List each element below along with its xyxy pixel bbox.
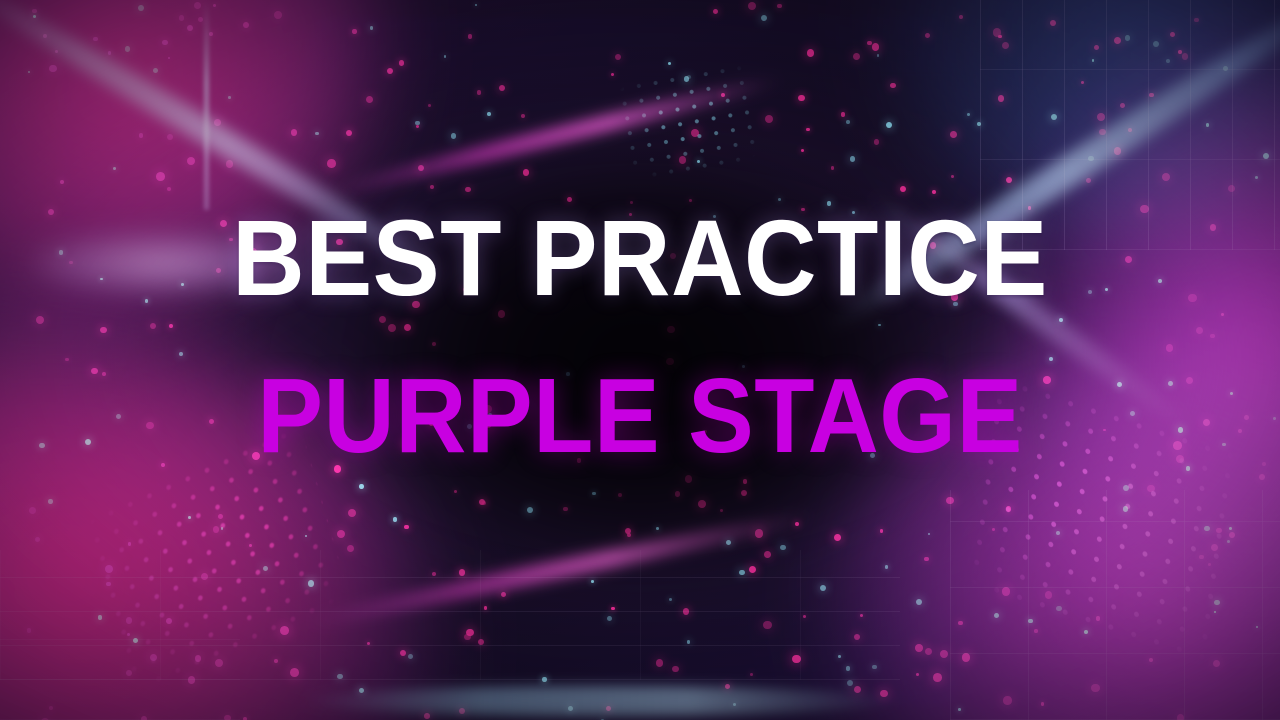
light-beam-left-lavender bbox=[30, 232, 290, 294]
light-pole-upper-left bbox=[204, 0, 209, 210]
center-darkening bbox=[360, 160, 920, 560]
light-beam-bottom-cyan bbox=[300, 686, 900, 716]
title-card-canvas: BEST PRACTICE PURPLE STAGE bbox=[0, 0, 1280, 720]
